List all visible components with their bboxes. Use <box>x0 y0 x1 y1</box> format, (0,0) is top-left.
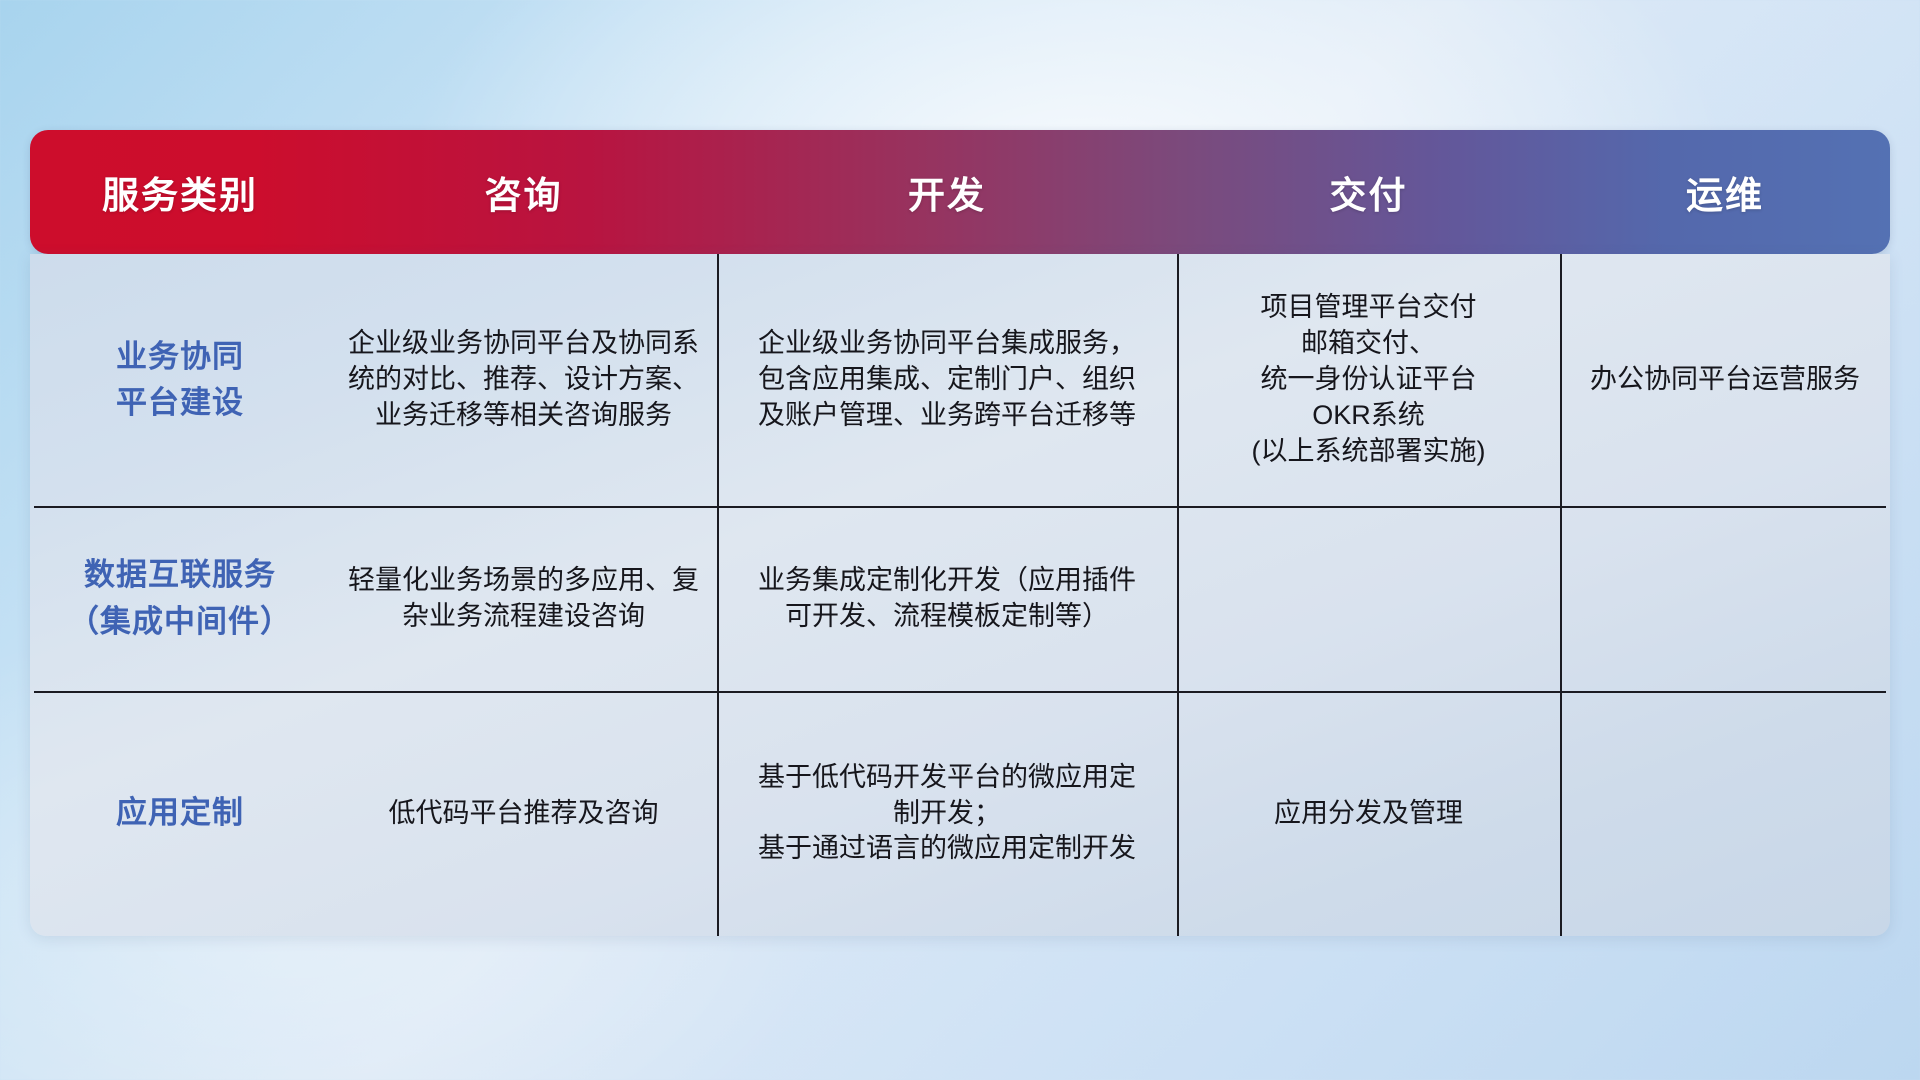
column-divider-3 <box>1560 254 1562 936</box>
table-row: 应用定制 低代码平台推荐及咨询 基于低代码开发平台的微应用定 制开发； 基于通过… <box>30 691 1890 936</box>
cell-delivery <box>1177 506 1560 691</box>
header-cell-operations: 运维 <box>1560 130 1890 254</box>
header-cell-delivery: 交付 <box>1177 130 1560 254</box>
service-matrix-table: 服务类别 咨询 开发 交付 运维 业务协同 平台建设 企业级业务协同平台及协同系… <box>30 130 1890 936</box>
cell-delivery: 项目管理平台交付 邮箱交付、 统一身份认证平台 OKR系统 (以上系统部署实施) <box>1177 254 1560 506</box>
cell-operations <box>1560 691 1890 936</box>
cell-development: 基于低代码开发平台的微应用定 制开发； 基于通过语言的微应用定制开发 <box>717 691 1177 936</box>
column-divider-2 <box>1177 254 1179 936</box>
cell-development: 企业级业务协同平台集成服务， 包含应用集成、定制门户、组织 及账户管理、业务跨平… <box>717 254 1177 506</box>
cell-delivery: 应用分发及管理 <box>1177 691 1560 936</box>
cell-development: 业务集成定制化开发（应用插件 可开发、流程模板定制等） <box>717 506 1177 691</box>
column-divider-1 <box>717 254 719 936</box>
cell-consulting: 轻量化业务场景的多应用、复 杂业务流程建设咨询 <box>330 506 717 691</box>
table-header-row: 服务类别 咨询 开发 交付 运维 <box>30 130 1890 254</box>
header-cell-service-category: 服务类别 <box>30 130 330 254</box>
header-cell-development: 开发 <box>717 130 1177 254</box>
cell-category: 业务协同 平台建设 <box>30 254 330 506</box>
cell-operations: 办公协同平台运营服务 <box>1560 254 1890 506</box>
header-cell-consulting: 咨询 <box>330 130 717 254</box>
table-row: 业务协同 平台建设 企业级业务协同平台及协同系 统的对比、推荐、设计方案、 业务… <box>30 254 1890 506</box>
cell-category: 应用定制 <box>30 691 330 936</box>
table-body: 业务协同 平台建设 企业级业务协同平台及协同系 统的对比、推荐、设计方案、 业务… <box>30 254 1890 936</box>
cell-consulting: 企业级业务协同平台及协同系 统的对比、推荐、设计方案、 业务迁移等相关咨询服务 <box>330 254 717 506</box>
cell-consulting: 低代码平台推荐及咨询 <box>330 691 717 936</box>
table-row: 数据互联服务 （集成中间件） 轻量化业务场景的多应用、复 杂业务流程建设咨询 业… <box>30 506 1890 691</box>
cell-category: 数据互联服务 （集成中间件） <box>30 506 330 691</box>
cell-operations <box>1560 506 1890 691</box>
